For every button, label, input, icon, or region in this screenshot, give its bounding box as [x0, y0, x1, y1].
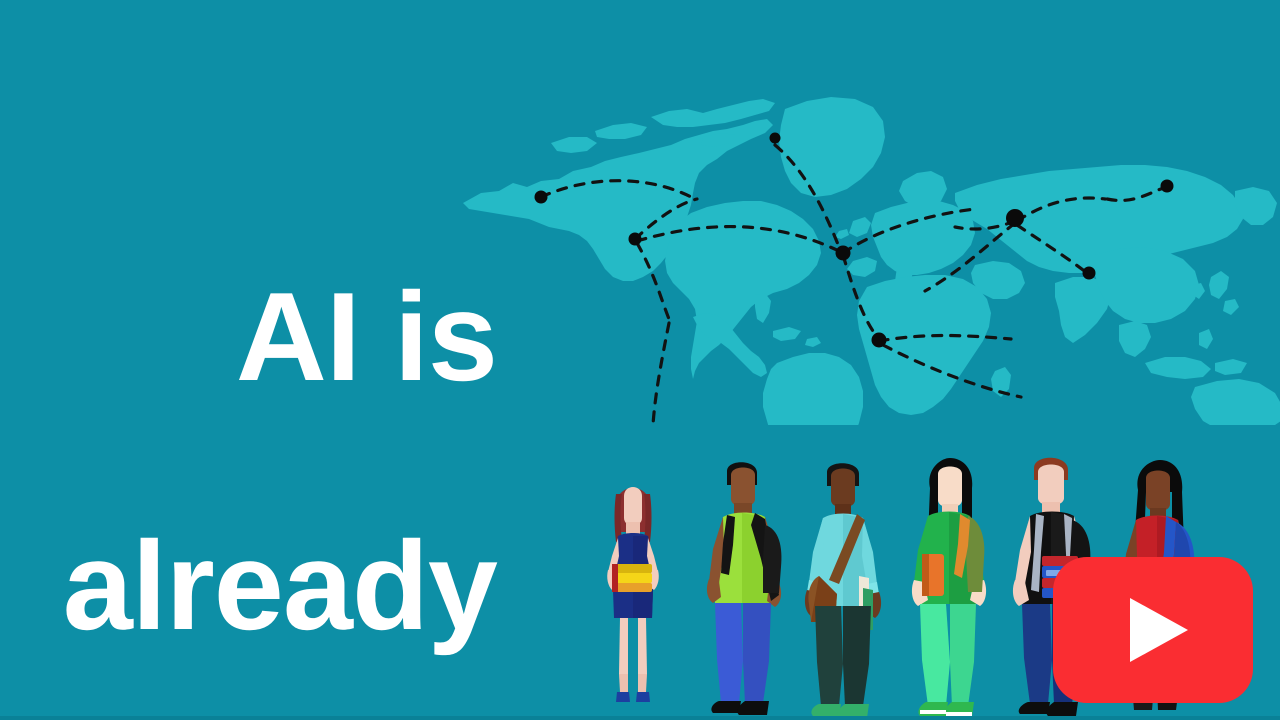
student-2 [693, 455, 791, 720]
video-thumbnail-canvas: AI is already here [0, 0, 1280, 720]
student-1 [588, 460, 678, 720]
student-4 [900, 458, 996, 720]
bottom-edge-band [0, 716, 1280, 720]
student-3 [795, 458, 891, 720]
play-button[interactable] [1053, 557, 1253, 703]
play-triangle-icon [1130, 598, 1188, 662]
